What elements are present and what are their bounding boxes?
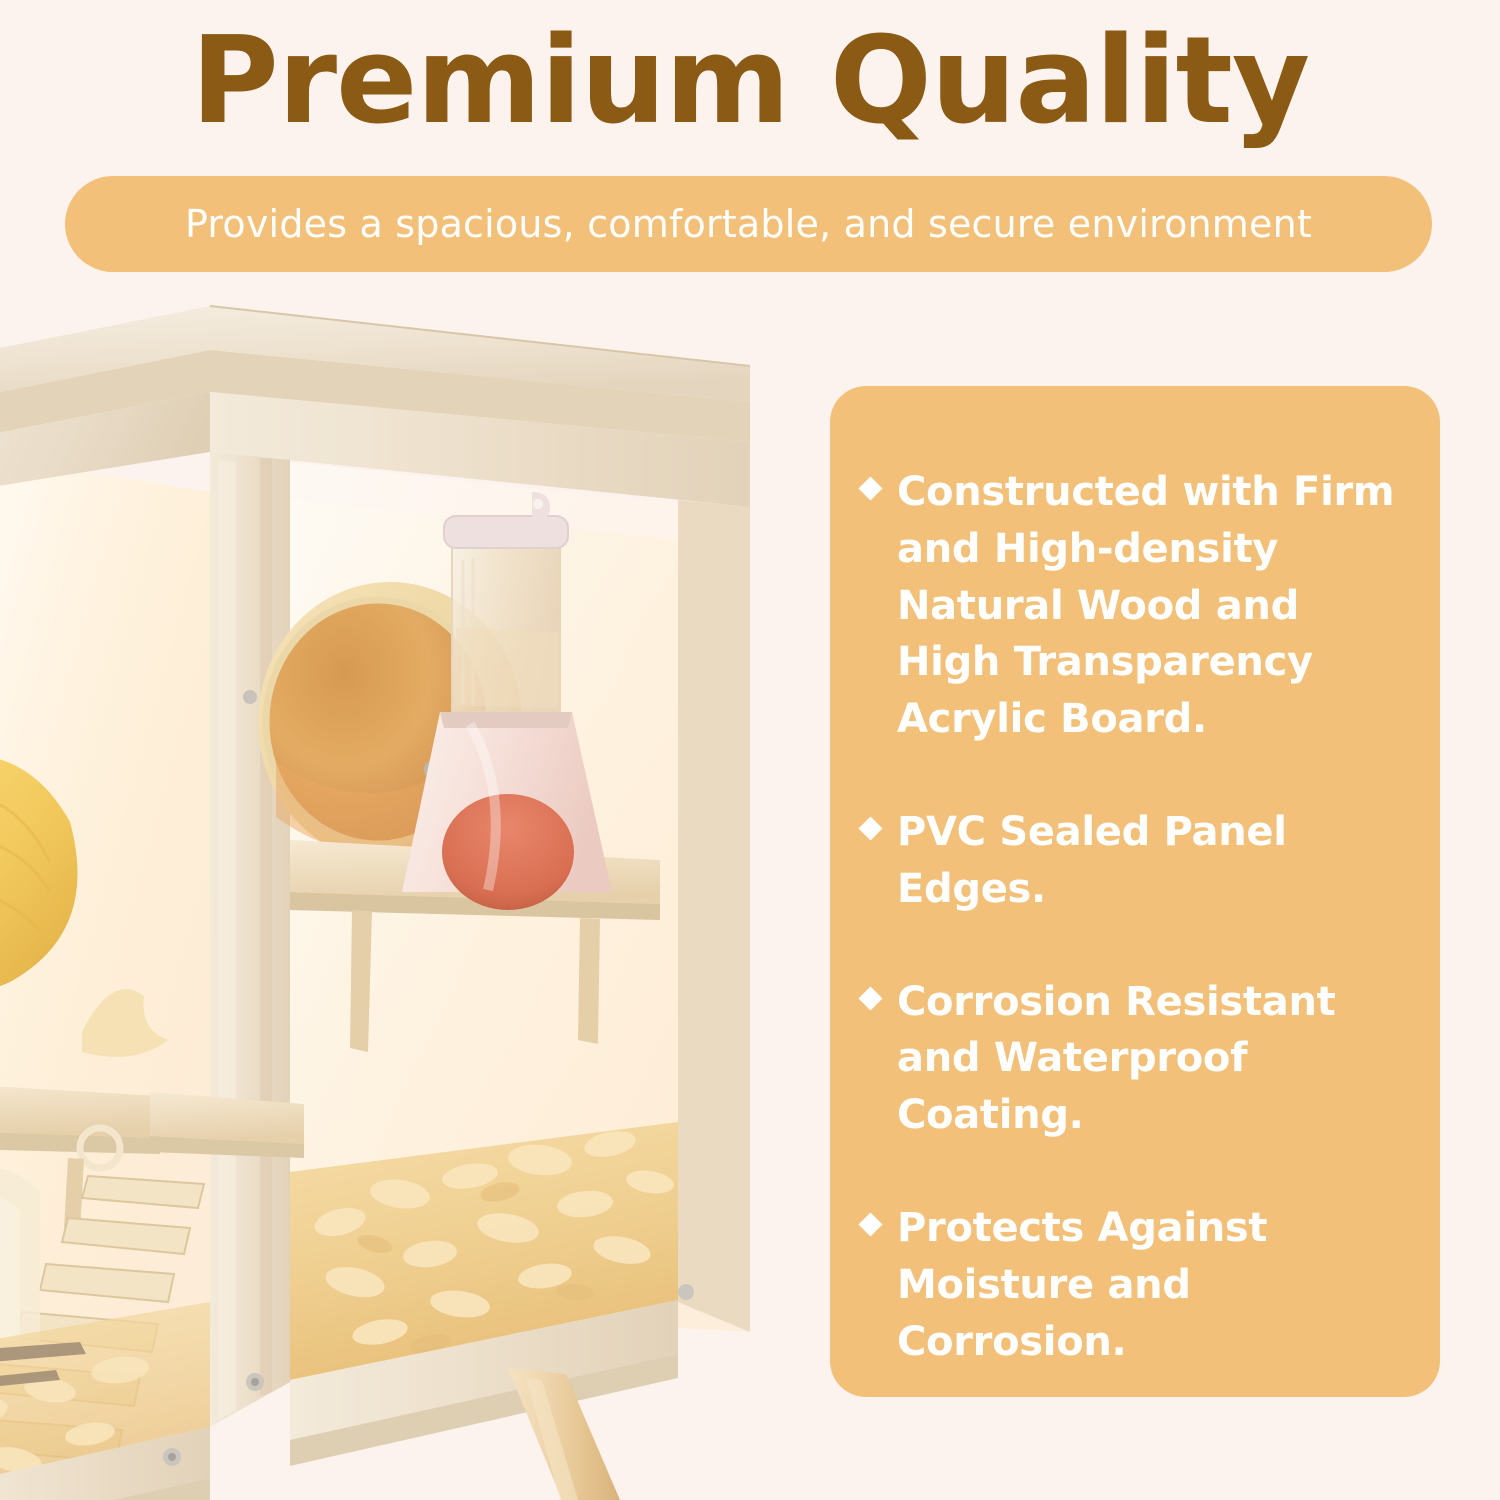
list-item: Corrosion Resistant and Waterproof Coati… <box>858 974 1406 1144</box>
feature-text: PVC Sealed Panel Edges. <box>897 804 1406 918</box>
feature-panel: Constructed with Firm and High-density N… <box>830 386 1440 1397</box>
feature-text: Corrosion Resistant and Waterproof Coati… <box>897 974 1406 1144</box>
list-item: PVC Sealed Panel Edges. <box>858 804 1406 918</box>
subtitle-banner: Provides a spacious, comfortable, and se… <box>65 176 1432 272</box>
subtitle-text: Provides a spacious, comfortable, and se… <box>185 202 1312 246</box>
list-item: Constructed with Firm and High-density N… <box>858 464 1406 748</box>
page-title: Premium Quality <box>0 22 1500 142</box>
product-feature-graphic: Premium Quality Provides a spacious, com… <box>0 0 1500 1500</box>
product-photo <box>0 292 800 1500</box>
diamond-bullet-icon <box>858 816 882 840</box>
list-item: Protects Against Moisture and Corrosion. <box>858 1200 1406 1370</box>
diamond-bullet-icon <box>858 1212 882 1236</box>
feature-text: Protects Against Moisture and Corrosion. <box>897 1200 1406 1370</box>
feature-text: Constructed with Firm and High-density N… <box>897 464 1406 748</box>
diamond-bullet-icon <box>858 986 882 1010</box>
diamond-bullet-icon <box>858 476 882 500</box>
feature-bullet-list: Constructed with Firm and High-density N… <box>858 464 1406 1370</box>
